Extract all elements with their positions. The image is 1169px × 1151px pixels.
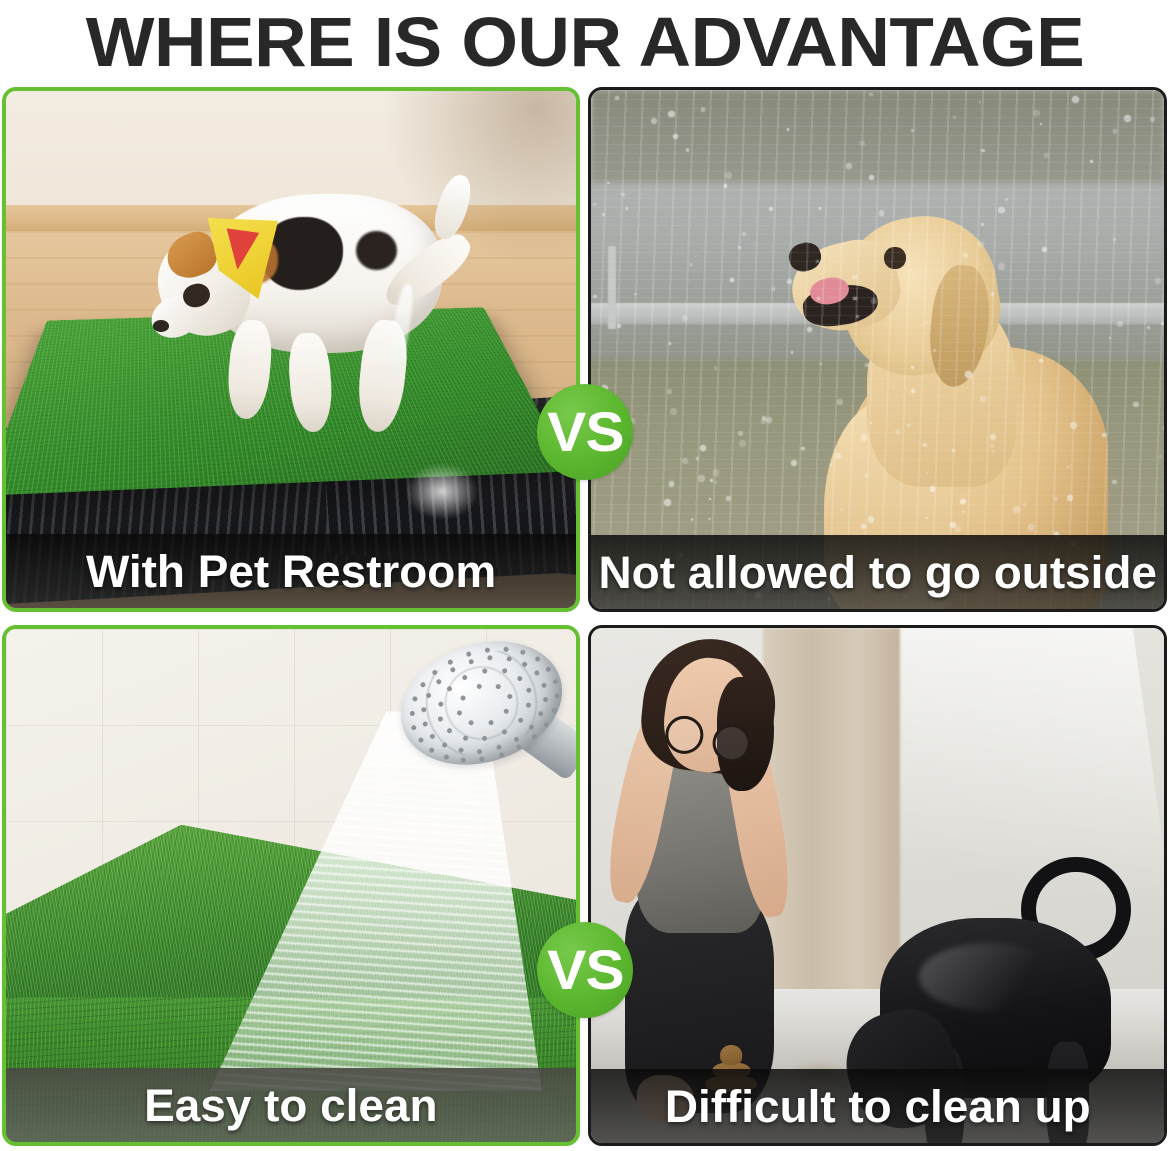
rain-droplet [856, 315, 859, 318]
rain-droplet [930, 486, 935, 491]
shower-nozzle-hole [522, 661, 528, 667]
rain-droplet [963, 253, 967, 257]
rain-droplet [1023, 503, 1026, 506]
caption-strip-difficult-to-clean-up: Difficult to clean up [591, 1069, 1164, 1143]
shower-nozzle-hole [488, 720, 494, 726]
rain-droplet [713, 469, 719, 475]
shower-nozzle-hole [496, 744, 502, 750]
rain-droplet [965, 371, 971, 377]
rain-droplet [837, 399, 843, 405]
rain-droplet [1072, 96, 1079, 103]
shower-nozzle-hole [477, 748, 483, 754]
rain-droplet [742, 232, 746, 236]
rain-droplet [673, 134, 677, 138]
rain-droplet [1159, 455, 1162, 458]
rain-droplet [835, 453, 841, 459]
rain-droplet [761, 419, 766, 424]
caption-label: Not allowed to go outside [598, 549, 1156, 596]
rain-droplet [911, 366, 914, 369]
rain-droplet [698, 475, 704, 481]
rain-droplet [871, 298, 877, 304]
rain-droplet [1070, 422, 1077, 429]
rain-droplet [869, 93, 873, 97]
rain-droplet [1013, 506, 1020, 513]
shower-nozzle-hole [484, 647, 490, 653]
shower-nozzle-hole [546, 667, 552, 673]
shower-nozzle-hole [502, 729, 508, 735]
shower-nozzle-hole [507, 694, 513, 700]
shower-nozzle-hole [429, 747, 435, 753]
rain-droplet [998, 207, 1004, 213]
shower-nozzle-hole [534, 670, 540, 676]
rain-droplet [859, 141, 865, 147]
rain-droplet [911, 129, 915, 133]
rain-droplet [1117, 321, 1123, 327]
shower-nozzle-hole [447, 686, 453, 692]
shower-nozzle-hole [514, 736, 520, 742]
vs-badge-bottom: VS [537, 922, 633, 1018]
shower-nozzle-hole [450, 667, 456, 673]
rain-droplet [708, 518, 710, 520]
shower-nozzle-hole [425, 692, 431, 698]
rain-droplet [1161, 322, 1164, 325]
rain-droplet [1150, 117, 1155, 122]
rain-droplet [615, 96, 619, 100]
rain-droplet [980, 396, 986, 402]
rain-droplet [664, 499, 671, 506]
rain-droplet [926, 472, 928, 474]
scene-dog-at-rainy-window [591, 90, 1164, 609]
rain-droplet [696, 457, 698, 459]
rain-droplet [621, 193, 625, 197]
rain-droplet [670, 408, 676, 414]
rain-droplet [724, 184, 728, 188]
comparison-grid: With Pet Restroom [0, 84, 1169, 1151]
caption-label: With Pet Restroom [86, 548, 496, 595]
rain-droplet [801, 447, 804, 450]
rain-droplet [1044, 153, 1049, 158]
shower-nozzle-hole [476, 684, 482, 690]
rain-droplet [933, 349, 936, 352]
rain-droplet [634, 293, 637, 296]
rain-droplet [981, 149, 984, 152]
scene-shower-rinsing-turf [6, 629, 576, 1142]
shower-nozzle-hole [520, 650, 526, 656]
rain-droplet [853, 297, 857, 301]
shower-nozzle-hole [457, 710, 463, 716]
rain-droplet [1042, 247, 1047, 252]
rain-droplet [1090, 160, 1093, 163]
rain-droplet [709, 498, 712, 501]
shower-nozzle-hole [542, 682, 548, 688]
shower-nozzle-hole [555, 693, 561, 699]
rain-droplet [669, 342, 672, 345]
shower-nozzle-hole [421, 707, 427, 713]
rain-droplet [725, 172, 732, 179]
rain-droplet [710, 479, 713, 482]
shower-nozzle-hole [501, 668, 507, 674]
panel-difficult-to-clean-up[interactable]: Difficult to clean up [588, 625, 1167, 1146]
rain-droplet [925, 321, 928, 324]
caption-strip-with-pet-restroom: With Pet Restroom [6, 534, 576, 608]
shower-nozzle-hole [526, 703, 532, 709]
caption-strip-not-allowed-outside: Not allowed to go outside [591, 535, 1164, 609]
shower-nozzle-hole [460, 695, 466, 701]
rain-droplet [870, 422, 872, 424]
rain-droplet [726, 496, 731, 501]
shower-nozzle-hole [482, 668, 488, 674]
rain-droplet [730, 278, 733, 281]
vs-badge-top: VS [537, 384, 633, 480]
rain-droplet [714, 366, 718, 370]
rain-droplet [1040, 123, 1042, 125]
shower-nozzle-hole [422, 721, 428, 727]
shower-nozzle-hole [411, 725, 417, 731]
rain-droplet [593, 203, 596, 206]
rain-droplet [667, 389, 671, 393]
glasses-left-lens [663, 712, 707, 756]
rain-droplet [769, 207, 773, 211]
rain-droplet [1005, 198, 1008, 201]
shower-nozzle-hole [479, 757, 485, 763]
shower-nozzle-hole [487, 655, 493, 661]
rain-droplet [978, 241, 984, 247]
shower-nozzle-hole [448, 659, 454, 665]
rain-droplet [1102, 433, 1106, 437]
rain-droplet [1039, 359, 1042, 362]
rain-droplet [787, 128, 789, 130]
rain-droplet [868, 516, 875, 523]
urine-splash [405, 463, 479, 520]
rain-droplet [879, 210, 884, 215]
shower-nozzle-hole [496, 683, 502, 689]
vs-label: VS [547, 404, 623, 460]
shower-nozzle-hole [506, 656, 512, 662]
rain-droplet [1067, 465, 1070, 468]
dog-hip-patch [356, 231, 397, 271]
rain-droplet [593, 295, 597, 299]
rain-droplet [701, 107, 705, 111]
rain-droplet [682, 315, 688, 321]
rain-droplet [700, 445, 706, 451]
rain-droplet [669, 481, 674, 486]
rain-droplet [1028, 524, 1034, 530]
shower-nozzle-hole [516, 745, 522, 751]
rain-droplet [861, 524, 866, 529]
shower-nozzle-hole [412, 696, 418, 702]
rain-droplet [953, 116, 956, 119]
shower-nozzle-hole [498, 752, 504, 758]
rain-droplet [1033, 110, 1039, 116]
rain-droplet [617, 324, 621, 328]
rain-droplet [682, 458, 687, 463]
rain-droplet [1155, 278, 1161, 284]
rain-droplet [865, 363, 869, 367]
shower-nozzle-hole [462, 735, 468, 741]
shower-nozzle-hole [438, 701, 444, 707]
caption-strip-easy-to-clean: Easy to clean [6, 1068, 576, 1142]
rain-droplet [691, 518, 694, 521]
shower-nozzle-hole [432, 670, 438, 676]
rain-droplet [1133, 402, 1139, 408]
shower-nozzle-hole [535, 657, 541, 663]
dog-tail [428, 172, 476, 244]
shower-nozzle-hole [462, 674, 468, 680]
rain-droplet [819, 363, 822, 366]
shower-nozzle-hole [517, 717, 523, 723]
rain-droplet [869, 175, 874, 180]
rain-droplet [1067, 495, 1073, 501]
rain-droplet [714, 481, 716, 483]
rain-droplet [602, 213, 605, 216]
rain-droplet [738, 431, 743, 436]
shower-nozzle-hole [468, 720, 474, 726]
shower-nozzle-hole [436, 679, 442, 685]
panel-not-allowed-outside[interactable]: Not allowed to go outside [588, 87, 1167, 612]
rain-droplet [926, 517, 928, 519]
shower-nozzle-hole [551, 707, 557, 713]
rain-droplet [840, 509, 842, 511]
rain-droplets [591, 90, 1164, 609]
shower-nozzle-hole [526, 688, 532, 694]
shower-nozzle-hole [517, 675, 523, 681]
rain-droplet [1163, 425, 1164, 431]
shower-nozzle-hole [466, 651, 472, 657]
caption-label: Difficult to clean up [665, 1083, 1091, 1130]
rain-droplet [960, 499, 965, 504]
rain-droplet [766, 417, 772, 423]
dog-nose [153, 320, 169, 332]
rain-droplet [1112, 480, 1116, 484]
glasses-right-lens [710, 721, 754, 765]
shower-nozzle-hole [458, 748, 464, 754]
shower-nozzle-hole [544, 721, 550, 727]
rain-droplet [739, 440, 746, 447]
rain-droplet [1124, 115, 1131, 122]
rain-droplet [981, 223, 984, 226]
waste-layer-top [721, 1045, 743, 1064]
shower-nozzle-hole [504, 709, 510, 715]
jack-russell-puppy [97, 148, 507, 479]
rain-droplet [690, 263, 692, 265]
rain-droplet [695, 255, 697, 257]
rain-droplet [861, 434, 868, 441]
rain-droplet [998, 263, 1005, 270]
shower-nozzle-hole [482, 736, 488, 742]
page-title-bar: WHERE IS OUR ADVANTAGE [0, 0, 1169, 84]
rain-droplet [772, 287, 776, 291]
rain-droplet [817, 297, 820, 300]
rain-droplet [846, 163, 851, 168]
rain-droplet [992, 450, 995, 453]
dog-fur-highlight [919, 943, 1060, 1011]
shower-nozzle-hole [444, 754, 450, 760]
shower-nozzle-hole [420, 682, 426, 688]
rain-droplet [816, 260, 819, 263]
caption-label: Easy to clean [144, 1082, 437, 1129]
rain-droplet [686, 148, 690, 152]
shower-nozzle-hole [468, 659, 474, 665]
rain-droplet [791, 351, 794, 354]
dog-front-leg [224, 318, 274, 420]
rain-droplet [895, 430, 899, 434]
rain-droplet [907, 424, 910, 427]
rain-droplet [979, 101, 981, 103]
rain-droplet [962, 510, 965, 513]
rain-droplet [668, 111, 675, 118]
scene-frustrated-owner-with-mess [591, 628, 1164, 1143]
shower-nozzle-hole [553, 679, 559, 685]
rain-droplet [626, 207, 628, 209]
rain-droplet [807, 327, 812, 332]
rain-droplet [990, 444, 994, 448]
shower-nozzle-hole [461, 757, 467, 763]
panel-easy-to-clean[interactable]: Easy to clean [2, 625, 580, 1146]
shower-nozzle-hole [543, 697, 549, 703]
rain-droplet [651, 118, 657, 124]
rain-droplet [1113, 238, 1116, 241]
shower-nozzle-hole [503, 647, 509, 653]
rain-droplet [991, 292, 995, 296]
rain-droplet [791, 460, 797, 466]
rain-droplet [787, 279, 792, 284]
rain-droplet [1109, 337, 1111, 339]
rain-droplet [852, 275, 857, 280]
vs-label: VS [547, 942, 623, 998]
rain-droplet [865, 474, 868, 477]
page-title: WHERE IS OUR ADVANTAGE [85, 7, 1083, 77]
rain-droplet [952, 449, 956, 453]
panel-with-pet-restroom[interactable]: With Pet Restroom [2, 87, 580, 612]
scene-puppy-on-grass-pad [6, 91, 576, 608]
shower-nozzle-hole [538, 711, 544, 717]
rain-droplet [1113, 129, 1118, 134]
shower-nozzle-hole [447, 728, 453, 734]
shower-nozzle-hole [528, 725, 534, 731]
rain-droplet [955, 526, 961, 532]
shower-nozzle-hole [418, 737, 424, 743]
rain-droplet [990, 434, 996, 440]
shower-nozzle-hole [429, 733, 435, 739]
rain-droplet [1054, 497, 1058, 501]
shower-nozzle-hole [438, 716, 444, 722]
rain-droplet [819, 207, 821, 209]
shower-nozzle-hole [532, 734, 538, 740]
shower-nozzle-hole [442, 743, 448, 749]
rain-droplet [923, 443, 927, 447]
rain-droplet [911, 389, 915, 393]
rain-droplet [1147, 326, 1150, 329]
shower-nozzle-hole [409, 711, 415, 717]
rain-droplet [830, 464, 833, 467]
rain-droplet [738, 246, 741, 249]
rain-droplet [607, 182, 610, 185]
